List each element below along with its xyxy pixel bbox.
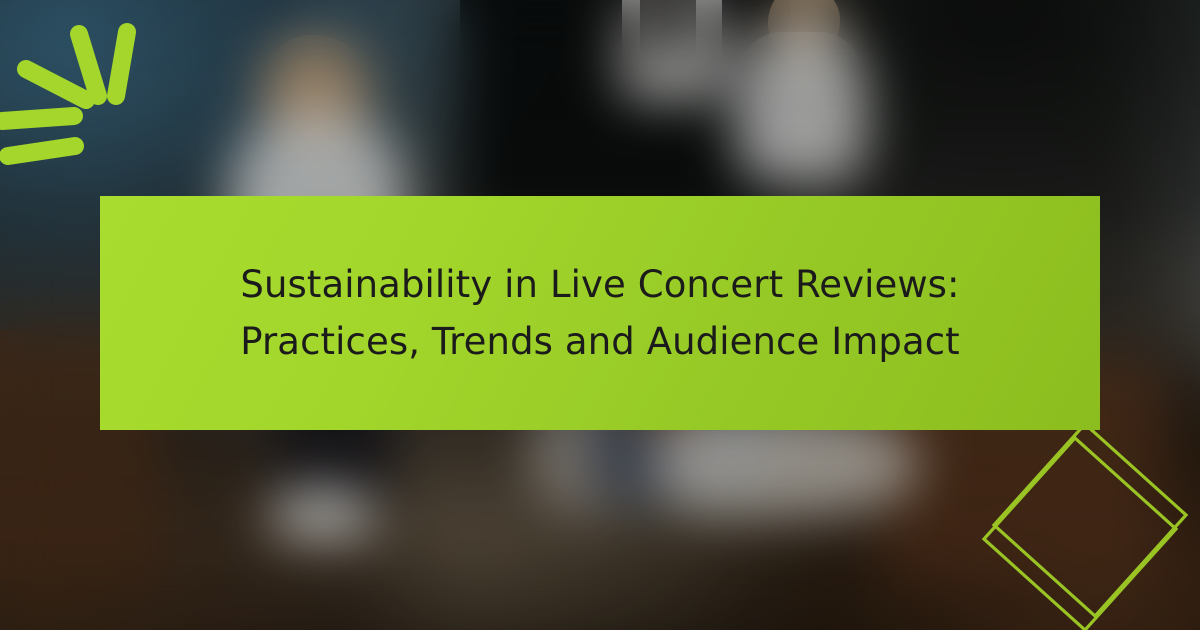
title-banner: Sustainability in Live Concert Reviews: … (100, 196, 1100, 430)
social-share-card: Sustainability in Live Concert Reviews: … (0, 0, 1200, 630)
page-title: Sustainability in Live Concert Reviews: … (240, 256, 960, 371)
